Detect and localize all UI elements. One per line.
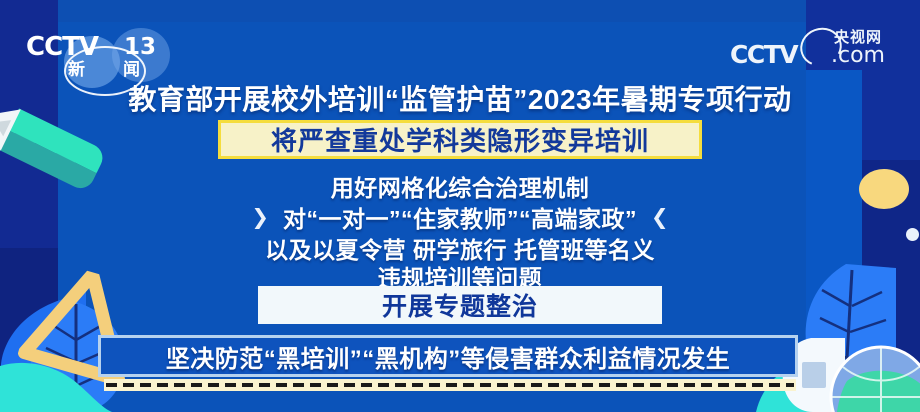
action-box-text: 开展专题整治	[382, 287, 538, 323]
chevron-right-icon: ❯	[251, 207, 269, 228]
headline: 教育部开展校外培训“监管护苗”2023年暑期专项行动	[0, 78, 920, 118]
dashed-underline-bar	[104, 379, 796, 391]
cctv-wordmark: CCTV	[730, 40, 797, 69]
bottom-banner: 坚决防范“黑培训”“黑机构”等侵害群众利益情况发生	[98, 335, 798, 377]
dashes	[106, 383, 794, 387]
chevron-left-icon: ❮	[651, 207, 669, 228]
card-decoration	[802, 362, 826, 388]
cctv-chinese-label: 央视网	[834, 26, 882, 47]
channel-name-char-2: 闻	[123, 55, 140, 80]
line-quotes-text: 对“一对一”“住家教师”“高端家政”	[283, 200, 637, 234]
cctv-com-logo: CCTV .com 央视网	[730, 26, 902, 74]
channel-name-label: 新 闻	[68, 55, 140, 80]
action-box: 开展专题整治	[258, 286, 662, 324]
bottom-banner-text: 坚决防范“黑培训”“黑机构”等侵害群众利益情况发生	[166, 339, 731, 374]
line-quotes-row: ❯ 对“一对一”“住家教师”“高端家政” ❮	[0, 200, 920, 234]
background-panel-top-strip	[58, 0, 806, 22]
highlight-box: 将严查重处学科类隐形变异培训	[218, 120, 702, 159]
globe-icon	[829, 345, 920, 412]
news-graphic-screen: CCTV 13 新 闻 CCTV .com 央视网 教育部开展校外培训“监管护苗…	[0, 0, 920, 412]
highlight-text: 将严查重处学科类隐形变异培训	[271, 121, 649, 158]
channel-name-char-1: 新	[68, 55, 85, 80]
line-mechanism: 用好网格化综合治理机制	[0, 169, 920, 203]
